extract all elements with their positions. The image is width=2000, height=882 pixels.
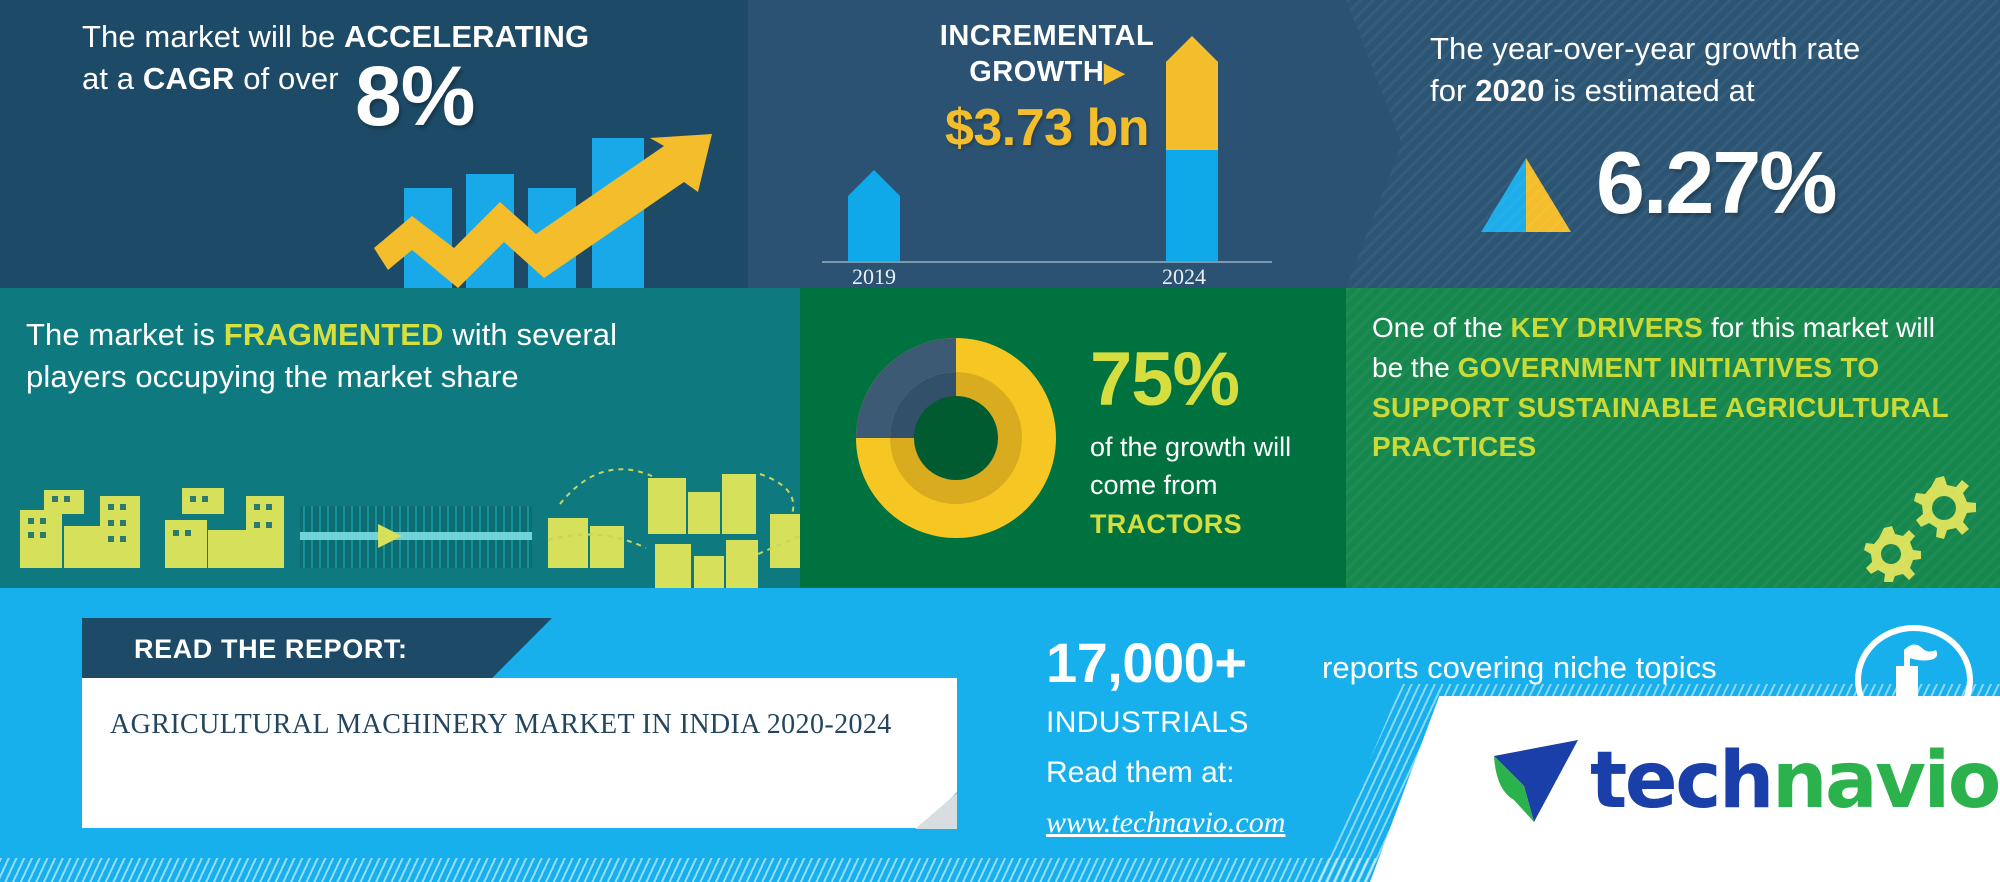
donut-caption-highlight: TRACTORS xyxy=(1090,505,1340,543)
donut-caption-line2: come from xyxy=(1090,466,1340,504)
reports-category: INDUSTRIALS xyxy=(1046,706,1249,740)
bar-chart-ascending-icon xyxy=(368,130,748,288)
drivers-highlight2: GOVERNMENT INITIATIVES TO SUPPORT SUSTAI… xyxy=(1372,352,1948,463)
fragmented-prefix: The market is xyxy=(26,317,224,352)
read-the-report-label: READ THE REPORT: xyxy=(134,634,408,665)
key-drivers-panel: One of the KEY DRIVERS for this market w… xyxy=(1346,288,2000,588)
cagr-text-prefix: The market will be xyxy=(82,19,344,54)
footer-hatch-decoration xyxy=(0,858,2000,882)
yoy-text-line2-suffix: is estimated at xyxy=(1545,73,1755,108)
logo-text-tech: tech xyxy=(1590,736,1772,826)
gears-icon xyxy=(1848,462,1978,582)
footer-panel: READ THE REPORT: AGRICULTURAL MACHINERY … xyxy=(0,588,2000,882)
drivers-prefix: One of the xyxy=(1372,312,1511,343)
incremental-year-end: 2024 xyxy=(1162,264,1206,288)
fragmented-highlight: FRAGMENTED xyxy=(224,317,444,352)
report-title-card[interactable]: AGRICULTURAL MACHINERY MARKET IN INDIA 2… xyxy=(82,678,957,828)
yoy-text-block: The year-over-year growth rate for 2020 … xyxy=(1430,28,1950,112)
key-drivers-text: One of the KEY DRIVERS for this market w… xyxy=(1372,308,1972,467)
yoy-text-year: 2020 xyxy=(1475,73,1544,108)
report-title: AGRICULTURAL MACHINERY MARKET IN INDIA 2… xyxy=(110,704,930,746)
fragmented-market-panel: The market is FRAGMENTED with several pl… xyxy=(0,288,800,588)
incremental-growth-panel: INCREMENTAL GROWTH▶ $3.73 bn 2019 2024 xyxy=(748,0,1346,288)
donut-chart xyxy=(846,328,1066,548)
incremental-arrows-icon xyxy=(748,0,1346,288)
cagr-text-line2-bold: CAGR xyxy=(143,61,235,96)
technavio-arrow-logo xyxy=(1490,738,1582,824)
fragmented-text-block: The market is FRAGMENTED with several pl… xyxy=(26,314,786,398)
fragmented-suffix: with several xyxy=(444,317,618,352)
donut-percent-value: 75% xyxy=(1090,336,1239,423)
tractors-share-panel: 75% of the growth will come from TRACTOR… xyxy=(800,288,1346,588)
donut-caption: of the growth will come from TRACTORS xyxy=(1090,428,1340,543)
incremental-year-start: 2019 xyxy=(852,264,896,288)
reports-caption: reports covering niche topics xyxy=(1322,650,1717,686)
technavio-url-link[interactable]: www.technavio.com xyxy=(1046,806,1285,840)
drivers-highlight1: KEY DRIVERS xyxy=(1511,312,1704,343)
read-the-report-tab: READ THE REPORT: xyxy=(82,618,552,684)
yoy-text-line2-prefix: for xyxy=(1430,73,1475,108)
yoy-growth-panel: The year-over-year growth rate for 2020 … xyxy=(1346,0,2000,288)
infographic-root: The market will be ACCELERATING at a CAG… xyxy=(0,0,2000,882)
logo-text-navio: navio xyxy=(1772,736,1999,826)
yoy-text-line1: The year-over-year growth rate xyxy=(1430,28,1950,70)
read-them-at-label: Read them at: xyxy=(1046,756,1234,790)
technavio-wordmark: technavio xyxy=(1590,736,1999,826)
cagr-panel: The market will be ACCELERATING at a CAG… xyxy=(0,0,748,288)
cagr-text-line2-prefix: at a xyxy=(82,61,143,96)
fragmented-line2: players occupying the market share xyxy=(26,356,786,398)
reports-count: 17,000+ xyxy=(1046,630,1246,695)
donut-caption-line1: of the growth will xyxy=(1090,428,1340,466)
yoy-value: 6.27% xyxy=(1596,132,1836,234)
city-buildings-icon xyxy=(0,448,800,588)
triangle-up-icon xyxy=(1481,158,1571,232)
cagr-text-line2-suffix: of over xyxy=(235,61,339,96)
